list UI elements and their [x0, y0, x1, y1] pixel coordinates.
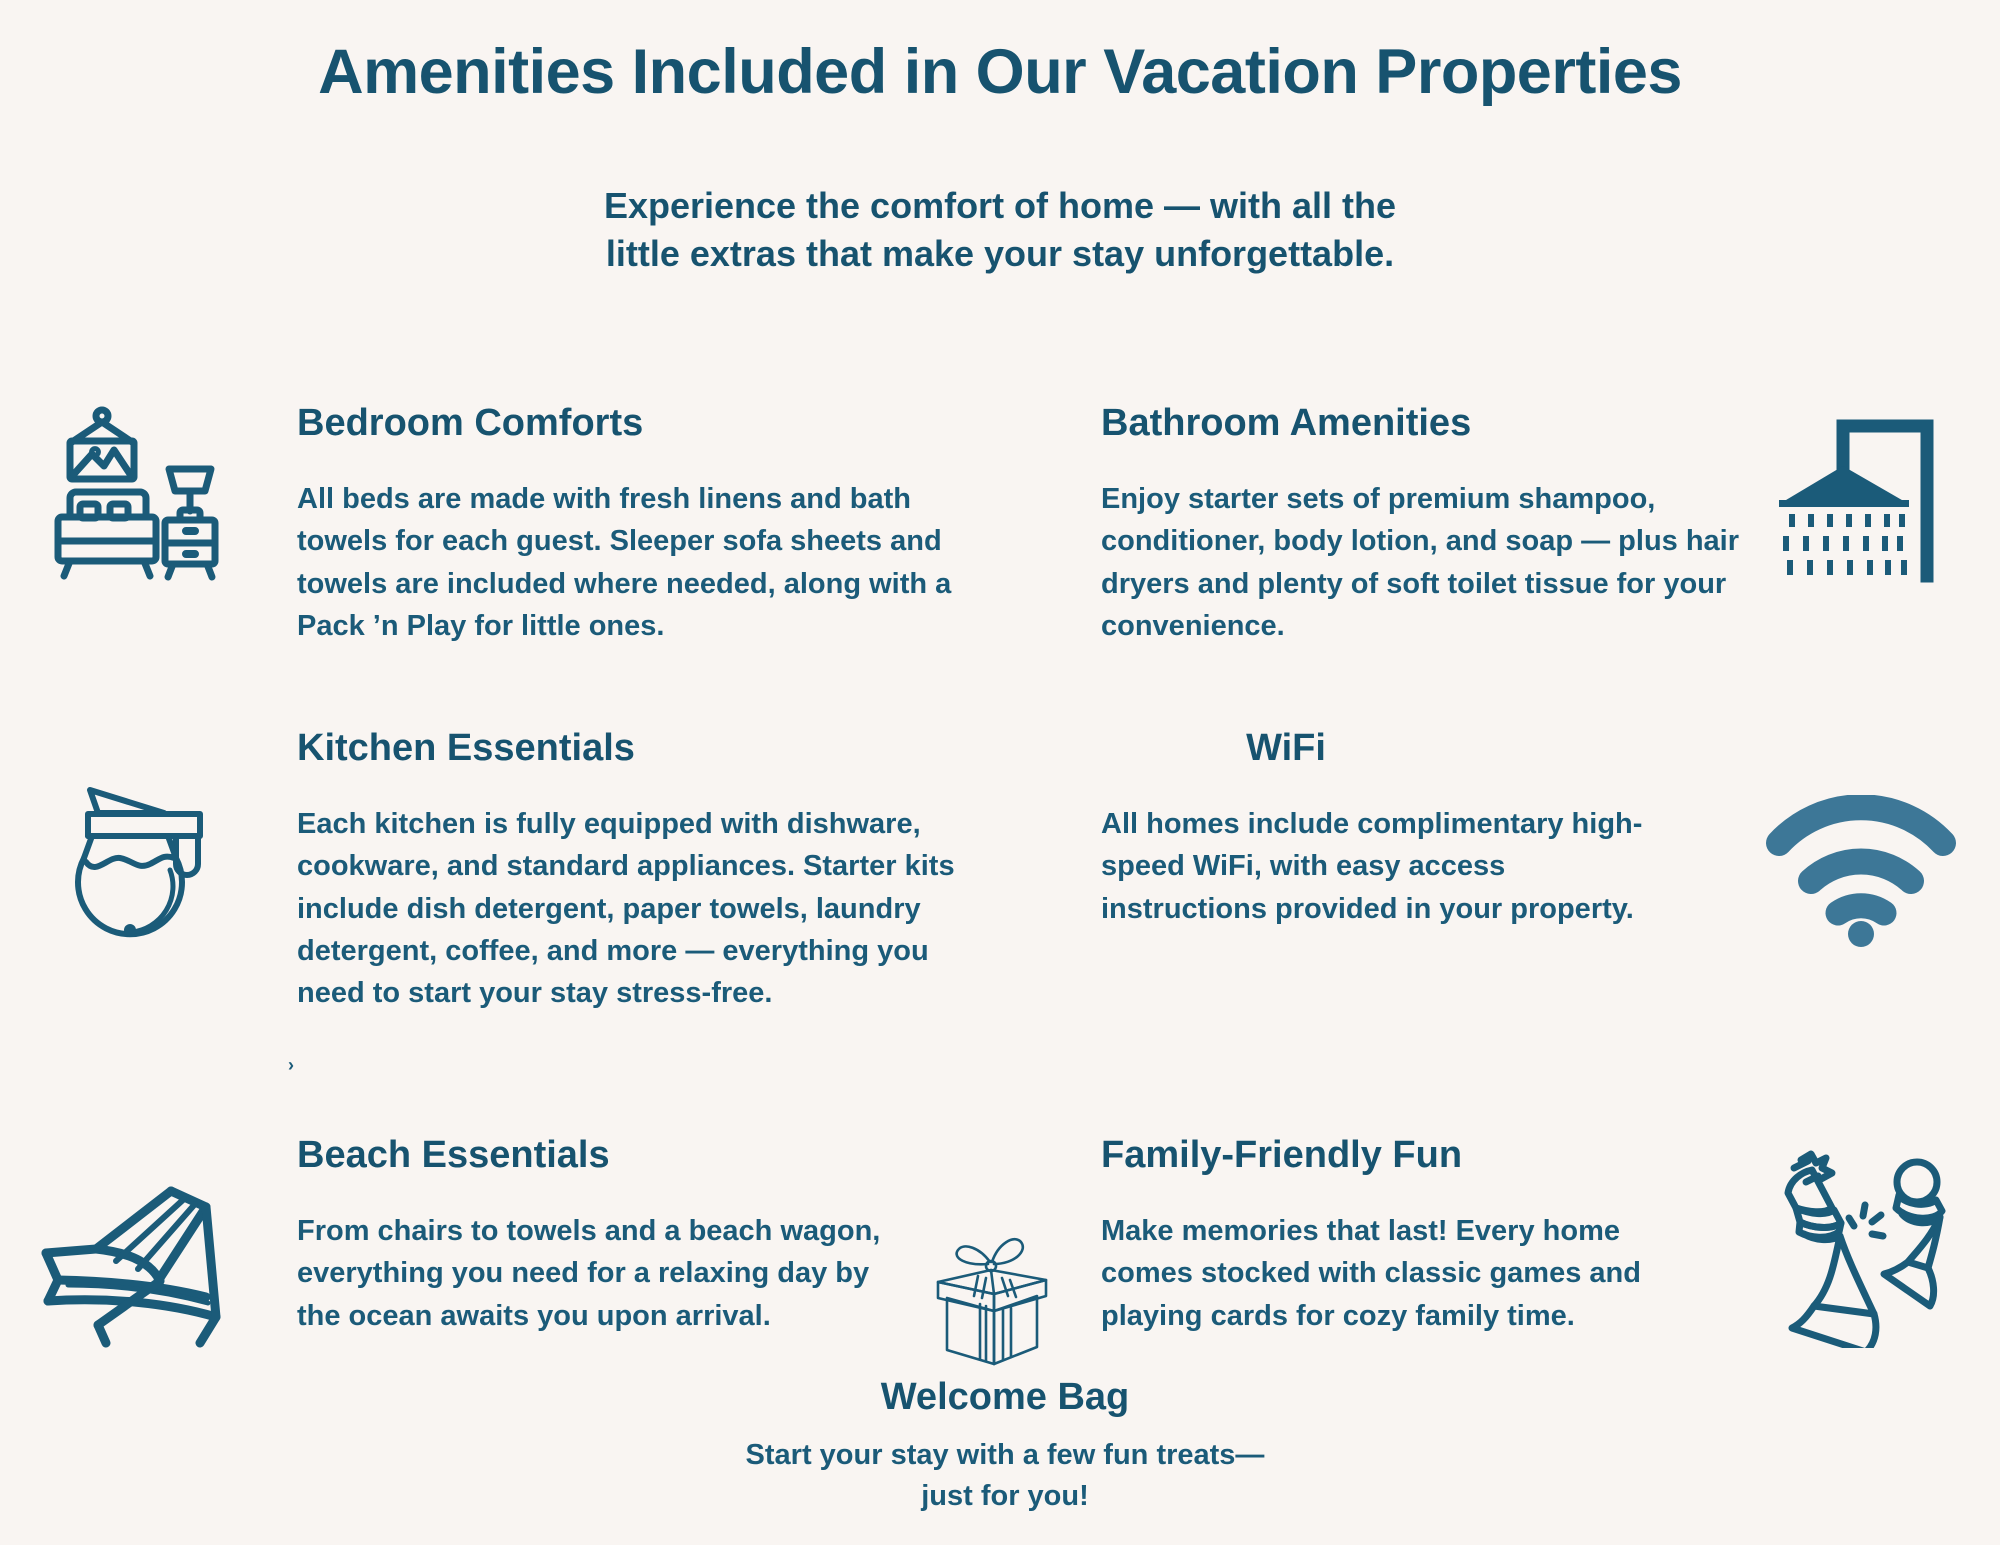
section-heading-beach: Beach Essentials	[297, 1135, 610, 1177]
section-body-bedroom: All beds are made with fresh linens and …	[297, 478, 957, 647]
section-heading-welcome: Welcome Bag	[740, 1377, 1270, 1419]
bedroom-icon	[48, 402, 228, 582]
page-subtitle-line1: Experience the comfort of home — with al…	[0, 182, 2000, 230]
infographic-page: Amenities Included in Our Vacation Prope…	[0, 0, 2000, 1545]
section-body-bathroom: Enjoy starter sets of premium shampoo, c…	[1101, 478, 1741, 647]
gift-box-icon	[928, 1218, 1056, 1370]
beach-chair-icon	[38, 1185, 238, 1350]
section-body-kitchen: Each kitchen is fully equipped with dish…	[297, 803, 967, 1015]
section-body-wifi: All homes include complimentary high-spe…	[1101, 803, 1661, 930]
section-heading-bathroom: Bathroom Amenities	[1101, 403, 1471, 445]
section-body-welcome: Start your stay with a few fun treats—ju…	[740, 1435, 1270, 1517]
section-heading-wifi: WiFi	[1101, 728, 1471, 770]
wifi-icon	[1765, 795, 1957, 947]
section-heading-bedroom: Bedroom Comforts	[297, 403, 643, 445]
chess-pieces-icon	[1768, 1138, 1960, 1348]
coffee-pot-icon	[68, 778, 228, 946]
page-subtitle-line2: little extras that make your stay unforg…	[0, 230, 2000, 278]
section-heading-kitchen: Kitchen Essentials	[297, 728, 635, 770]
section-body-family: Make memories that last! Every home come…	[1101, 1210, 1701, 1337]
section-heading-family: Family-Friendly Fun	[1101, 1135, 1462, 1177]
page-subtitle: Experience the comfort of home — with al…	[0, 182, 2000, 277]
page-title: Amenities Included in Our Vacation Prope…	[0, 38, 2000, 107]
text-artifact-glyph: ›	[288, 1055, 294, 1076]
section-body-beach: From chairs to towels and a beach wagon,…	[297, 1210, 907, 1337]
shower-icon	[1775, 408, 1947, 583]
